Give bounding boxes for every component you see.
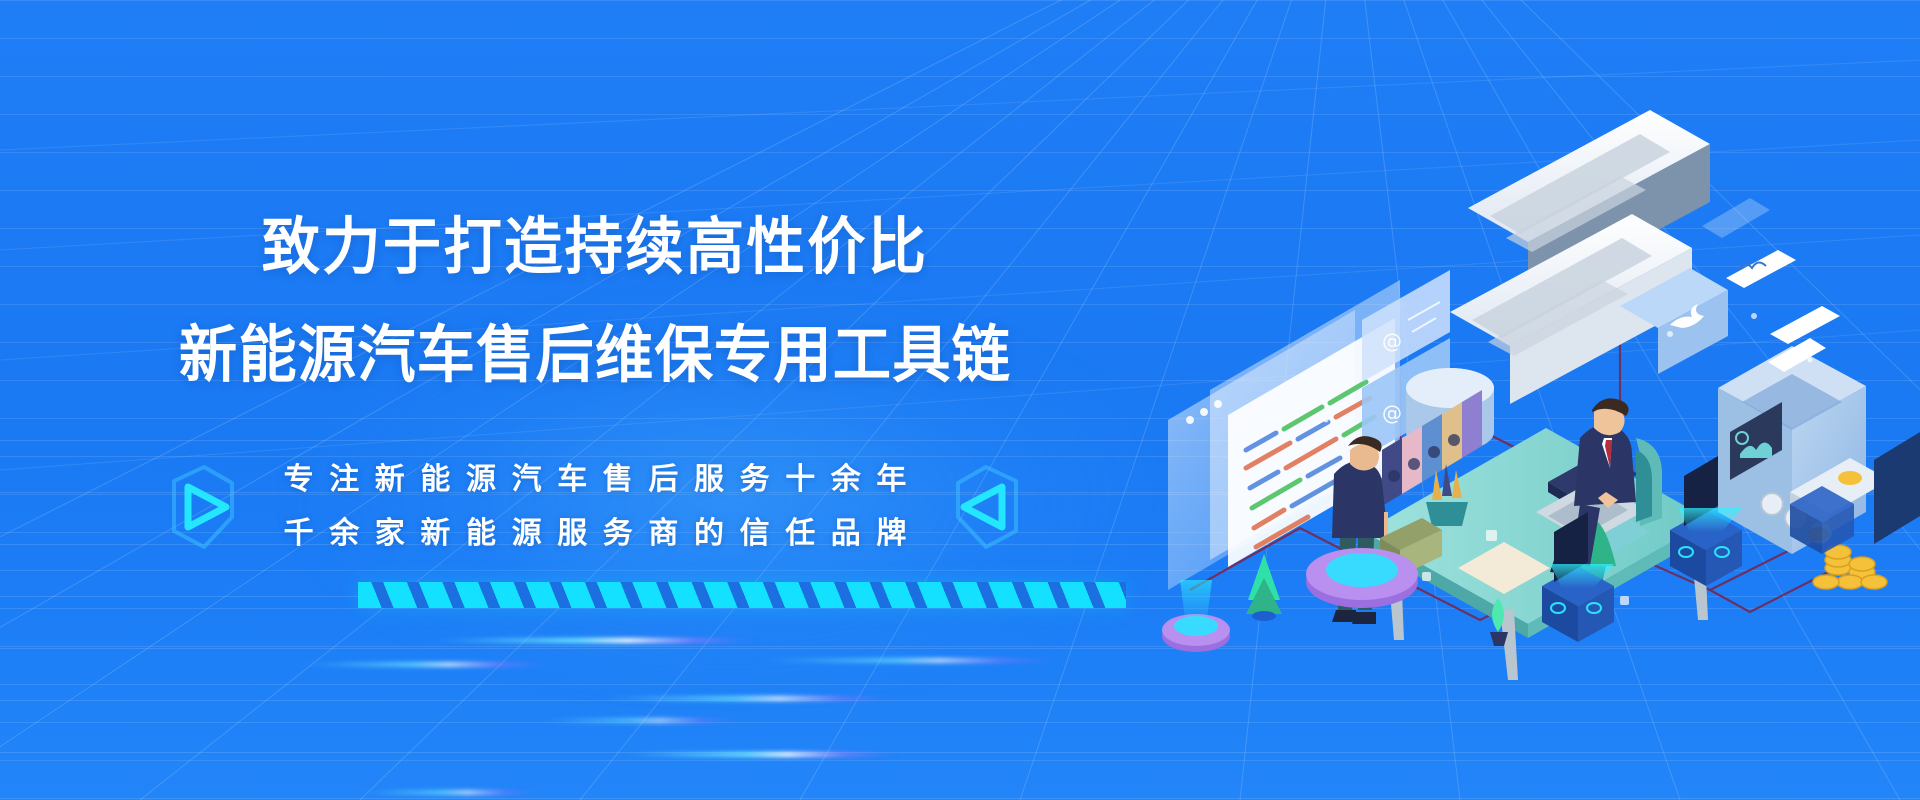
svg-text:@: @	[1382, 401, 1402, 425]
hologram-podium	[1306, 548, 1418, 608]
subtitle-block: 专注新能源汽车售后服务十余年 千余家新能源服务商的信任品牌	[0, 460, 1190, 554]
diagonal-stripe-bar	[358, 582, 1126, 608]
isometric-office-teamwork-illustration: @ @	[1150, 120, 1920, 680]
subtitle-line-1: 专注新能源汽车售后服务十余年	[268, 460, 922, 500]
chart-card	[1702, 198, 1770, 238]
headline-line-1: 致力于打造持续高性价比	[36, 212, 1155, 282]
monitor-screen	[1874, 432, 1920, 544]
play-triangle-left-icon	[946, 461, 1032, 553]
subtitle-line-2: 千余家新能源服务商的信任品牌	[268, 514, 922, 554]
play-triangle-right-icon	[158, 461, 244, 553]
pine-tree	[1246, 554, 1282, 621]
hologram-podium	[1162, 580, 1230, 652]
copy-block: 致力于打造持续高性价比 新能源汽车售后维保专用工具链 专注新能源汽车售后服务十余…	[0, 0, 1190, 800]
svg-text:@: @	[1382, 329, 1402, 353]
hero-banner: 致力于打造持续高性价比 新能源汽车售后维保专用工具链 专注新能源汽车售后服务十余…	[0, 0, 1920, 800]
headline-line-2: 新能源汽车售后维保专用工具链	[36, 320, 1155, 390]
subtitle-lines: 专注新能源汽车售后服务十余年 千余家新能源服务商的信任品牌	[268, 460, 922, 554]
